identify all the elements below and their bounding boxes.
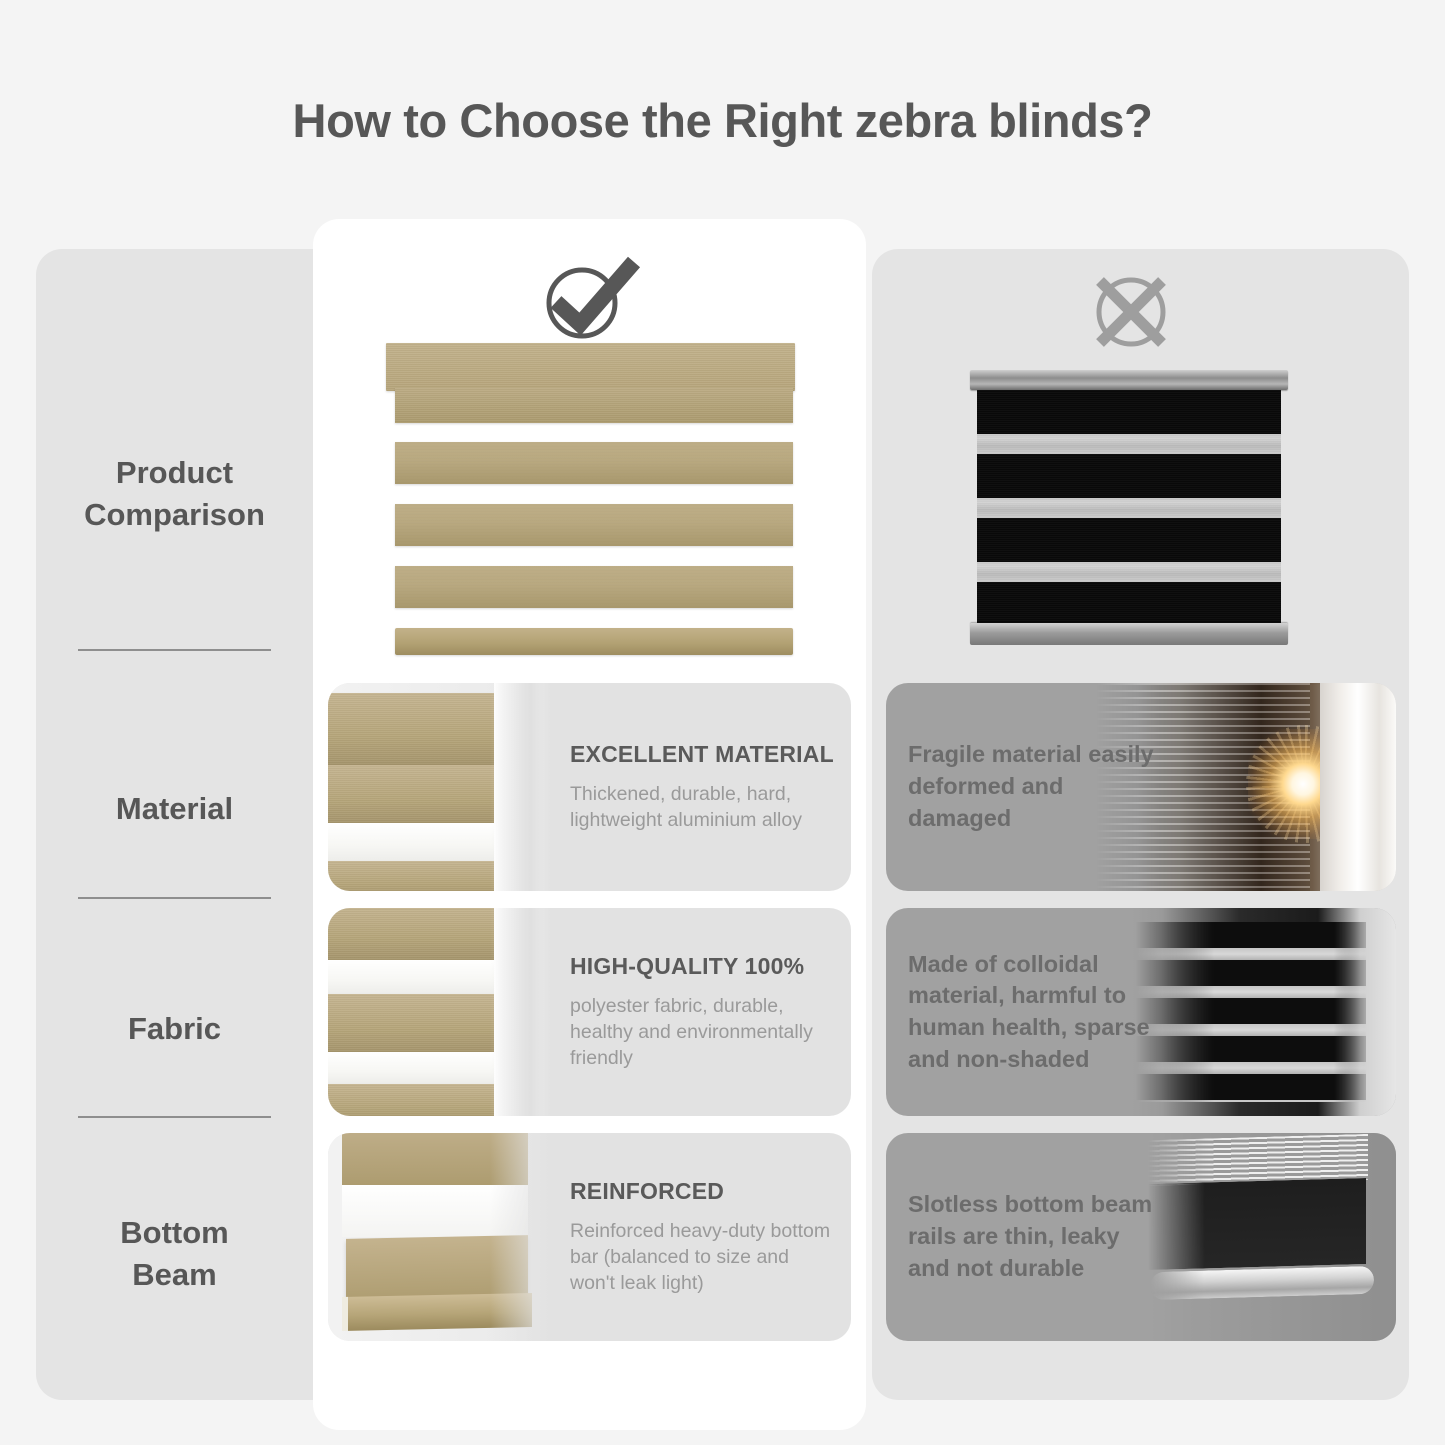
bad-feature-card-material: Fragile material easily deformed and dam… [886,683,1396,891]
blind-slat [395,442,793,484]
blind-valance [395,388,793,423]
feature-title: HIGH-QUALITY 100% [570,953,837,980]
photo-fade [490,1133,570,1341]
feature-description: Thickened, durable, hard, lightweight al… [570,781,837,834]
row-label-fabric: Fabric [36,984,313,1074]
circle-cross-icon [1084,268,1178,356]
blind-fabric-body [1148,1178,1366,1270]
photo-fade [490,683,570,891]
good-feature-card-bottom-beam: REINFORCED Reinforced heavy-duty bottom … [328,1133,851,1341]
blind-fabric-bands [1136,922,1366,1102]
feature-text-block: EXCELLENT MATERIAL Thickened, durable, h… [570,683,837,891]
blind-bottom-rail [970,623,1288,645]
feature-text-block: REINFORCED Reinforced heavy-duty bottom … [570,1133,837,1341]
feature-text-block: HIGH-QUALITY 100% polyester fabric, dura… [570,908,837,1116]
good-feature-card-material: EXCELLENT MATERIAL Thickened, durable, h… [328,683,851,891]
bad-feature-card-fabric: Made of colloidal material, harmful to h… [886,908,1396,1116]
circle-check-icon [536,252,644,344]
row-divider [78,1116,271,1118]
drawback-text: Fragile material easily deformed and dam… [908,683,1158,891]
row-label-material: Material [36,764,313,854]
drawback-text: Made of colloidal material, harmful to h… [908,908,1158,1116]
tan-blind-fabric-closeup-photo [328,908,570,1116]
page-title: How to Choose the Right zebra blinds? [0,93,1445,148]
row-label-column: Product Comparison Material Fabric Botto… [36,249,313,1400]
row-label-product-comparison: Product Comparison [36,429,313,559]
blind-headrail [970,370,1288,390]
feature-description: Reinforced heavy-duty bottom bar (balanc… [570,1218,837,1297]
blind-headrail [386,343,795,391]
blind-slat [395,566,793,608]
hero-black-zebra-blind [968,370,1290,645]
feature-title: EXCELLENT MATERIAL [570,741,837,768]
blind-bottom-bar [395,628,793,655]
good-feature-card-fabric: HIGH-QUALITY 100% polyester fabric, dura… [328,908,851,1116]
blind-slat [395,504,793,546]
infographic-root: How to Choose the Right zebra blinds? Pr… [0,0,1445,1445]
feature-title: REINFORCED [570,1178,837,1205]
hero-tan-zebra-blind [386,343,795,668]
reinforced-bottom-bar-photo [328,1133,570,1341]
row-divider [78,897,271,899]
bad-feature-card-bottom-beam: Slotless bottom beam rails are thin, lea… [886,1133,1396,1341]
row-divider [78,649,271,651]
tan-blind-in-window-frame-photo [328,683,570,891]
row-label-bottom-beam: Bottom Beam [36,1189,313,1319]
photo-fade [490,908,570,1116]
drawback-text: Slotless bottom beam rails are thin, lea… [908,1133,1158,1341]
window-frame [1320,683,1396,891]
blind-fabric-body [977,390,1281,623]
feature-description: polyester fabric, durable, healthy and e… [570,993,837,1072]
